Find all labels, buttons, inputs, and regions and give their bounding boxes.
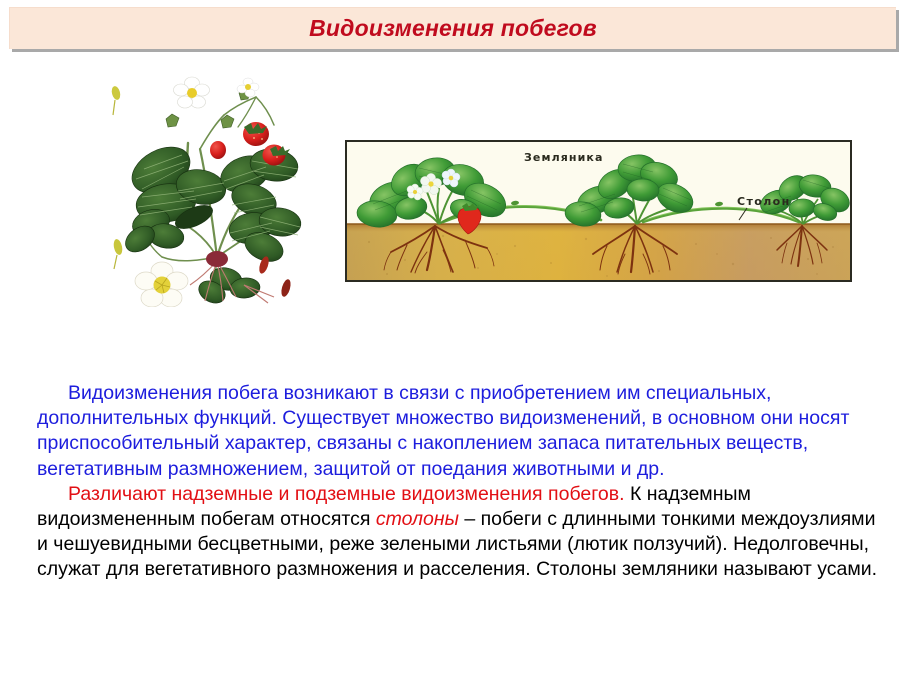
stolon-diagram: Земляника Столон	[345, 140, 852, 282]
page-title: Видоизменения побегов	[309, 15, 597, 42]
slide-title-banner: Видоизменения побегов	[9, 7, 896, 49]
sentence-kinds-of-modifications: Различают надземные и подземные видоизме…	[68, 483, 625, 505]
diagram-label-plant: Земляника	[524, 151, 603, 164]
slide-body-text: Видоизменения побега возникают в связи с…	[37, 381, 882, 583]
paragraph-modifications-intro: Видоизменения побега возникают в связи с…	[37, 381, 882, 482]
botanical-illustration-strawberry	[104, 57, 322, 307]
diagram-label-stolon: Столон	[737, 195, 791, 208]
paragraph-aboveground-stolons: Различают надземные и подземные видоизме…	[37, 482, 882, 583]
term-stolony: столоны	[376, 508, 459, 530]
